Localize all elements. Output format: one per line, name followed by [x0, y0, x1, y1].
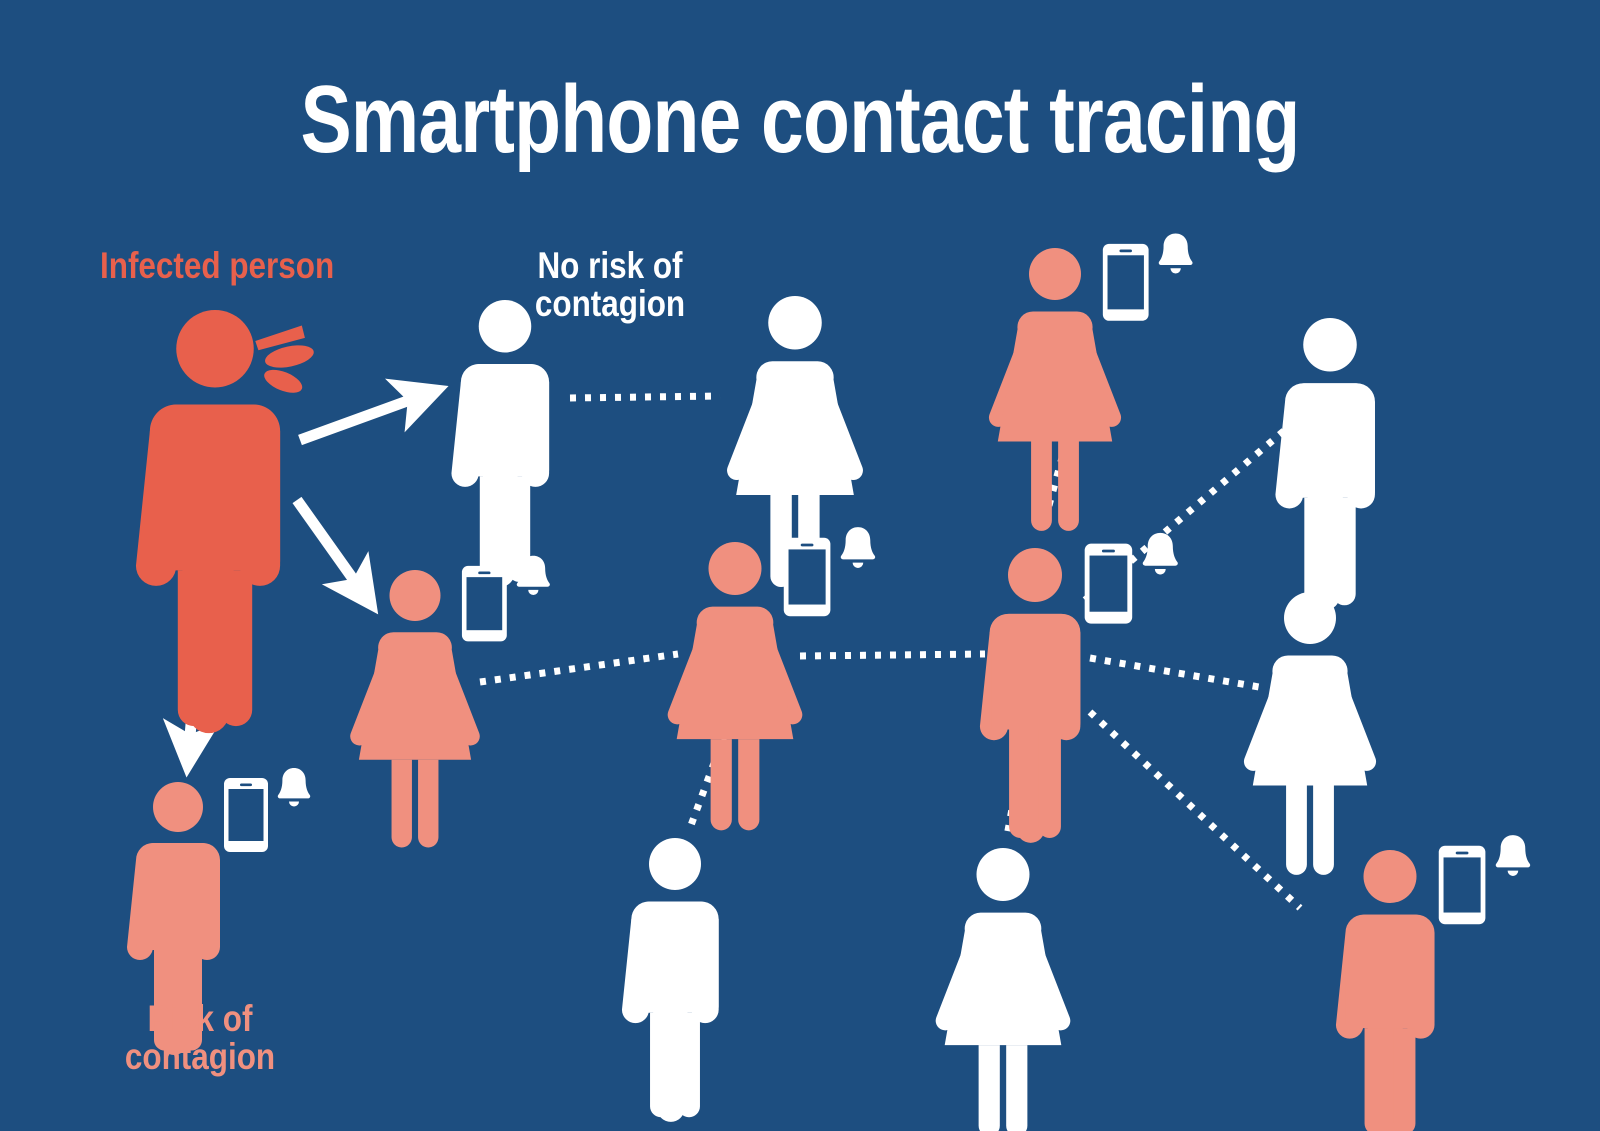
- phone-screen: [789, 549, 826, 604]
- figure-head: [1284, 592, 1336, 644]
- phone-speaker: [1119, 250, 1131, 253]
- figure-leg-right: [1393, 1028, 1415, 1131]
- figure-torso: [992, 614, 1078, 730]
- person-n6-risk: [350, 556, 550, 848]
- smartphone-with-notification: [1439, 835, 1530, 924]
- notification-bell-icon: [1143, 533, 1178, 575]
- phone-speaker: [240, 784, 252, 787]
- male-pictogram: [1336, 850, 1435, 1131]
- smartphone-icon: [224, 778, 268, 852]
- figure-dress: [945, 913, 1062, 1046]
- figure-dress: [736, 361, 854, 495]
- page-title: Smartphone contact tracing: [160, 72, 1440, 168]
- transmission-arrow-n1-n6: [297, 500, 368, 600]
- bell-clapper: [1170, 268, 1180, 273]
- person-n12-no_risk: [936, 848, 1071, 1131]
- contact-link-n2-n3: [570, 396, 720, 398]
- figure-leg-left: [1009, 729, 1032, 838]
- figure-leg-left: [178, 570, 211, 726]
- cough-droplets-icon: [255, 326, 315, 398]
- contact-link-n6-n7: [480, 654, 678, 682]
- phone-speaker: [801, 544, 814, 547]
- smartphone-with-notification: [784, 527, 875, 616]
- figure-head: [176, 310, 254, 388]
- person-n5-no_risk: [1275, 318, 1375, 610]
- figure-head: [153, 782, 203, 832]
- female-pictogram: [936, 848, 1071, 1131]
- bell-clapper: [1508, 871, 1519, 876]
- notification-bell-icon: [278, 768, 310, 807]
- dotted-links-layer: [480, 396, 1300, 908]
- figure-torso: [1287, 383, 1373, 497]
- smartphone-with-notification: [224, 768, 310, 852]
- figure-head: [1029, 248, 1081, 300]
- figure-dress: [359, 632, 471, 760]
- figure-leg-right: [1333, 498, 1355, 606]
- figure-dress: [677, 607, 794, 740]
- male-pictogram: [622, 838, 719, 1122]
- bell-clapper: [289, 802, 299, 807]
- figure-torso: [153, 405, 277, 571]
- figure-leg-right: [738, 739, 759, 830]
- phone-screen: [1090, 556, 1128, 612]
- phone-speaker: [478, 572, 490, 575]
- figure-dress: [1253, 655, 1367, 785]
- phone-speaker: [1102, 550, 1115, 553]
- smartphone-icon: [1439, 846, 1486, 924]
- figure-head: [1008, 548, 1062, 602]
- figure-leg-right: [1058, 441, 1079, 530]
- legend-label-risk: Risk of contagion: [64, 1000, 336, 1077]
- figure-dress: [998, 311, 1112, 441]
- phone-speaker: [1456, 852, 1469, 855]
- person-n11-no_risk: [622, 838, 719, 1122]
- bell-dome: [841, 527, 875, 559]
- person-n1-infected: [136, 310, 316, 733]
- figure-head: [649, 838, 701, 890]
- phone-screen: [1444, 857, 1481, 912]
- figure-leg-left: [650, 1013, 672, 1118]
- bell-dome: [1159, 233, 1193, 265]
- figure-torso: [633, 901, 716, 1012]
- phone-screen: [229, 789, 264, 841]
- bell-dome: [278, 768, 310, 798]
- person-n2-no_risk: [451, 300, 549, 587]
- contact-link-n8-n9: [1090, 658, 1265, 688]
- male-pictogram: [980, 548, 1080, 843]
- person-n8-risk: [980, 533, 1178, 843]
- figure-leg-left: [1304, 498, 1326, 606]
- figure-head: [709, 542, 762, 595]
- figure-leg-right: [418, 760, 438, 848]
- bell-dome: [1496, 835, 1530, 867]
- cough-droplet-3: [261, 365, 305, 397]
- notification-bell-icon: [1159, 233, 1193, 273]
- infographic-canvas: Smartphone contact tracing Infected pers…: [0, 0, 1600, 1131]
- male-pictogram: [1275, 318, 1375, 610]
- figure-leg-left: [392, 760, 412, 848]
- figure-head: [768, 296, 822, 350]
- phone-screen: [1108, 255, 1144, 309]
- figure-torso: [1348, 915, 1433, 1028]
- male-pictogram: [136, 310, 280, 733]
- figure-leg-left: [1031, 441, 1052, 530]
- male-pictogram: [451, 300, 549, 587]
- phone-screen: [467, 577, 503, 630]
- bell-clapper: [528, 590, 538, 595]
- transmission-arrow-n1-n2: [300, 392, 432, 440]
- bell-clapper: [1155, 569, 1166, 574]
- people-nodes-layer: [127, 233, 1530, 1131]
- notification-bell-icon: [841, 527, 875, 568]
- female-pictogram: [1244, 592, 1376, 875]
- bell-dome: [1143, 533, 1178, 566]
- person-n9-no_risk: [1244, 592, 1376, 875]
- figure-leg-left: [1365, 1028, 1387, 1131]
- figure-leg-right: [220, 570, 253, 726]
- figure-leg-right: [1006, 1045, 1027, 1131]
- smartphone-icon: [462, 566, 507, 641]
- figure-leg-left: [711, 739, 732, 830]
- figure-leg-left: [1286, 785, 1307, 874]
- person-n4-risk: [989, 233, 1193, 530]
- figure-head: [977, 848, 1030, 901]
- smartphone-icon: [784, 538, 831, 616]
- female-pictogram: [350, 570, 480, 847]
- legend-label-infected: Infected person: [100, 247, 334, 285]
- legend-label-no-risk: No risk of contagion: [491, 247, 729, 324]
- figure-leg-right: [678, 1013, 700, 1118]
- figure-leg-left: [979, 1045, 1000, 1131]
- figure-torso: [138, 843, 218, 950]
- smartphone-with-notification: [1103, 233, 1193, 320]
- smartphone-icon: [1085, 544, 1133, 624]
- figure-head: [1364, 850, 1417, 903]
- person-n13-risk: [1336, 835, 1530, 1131]
- smartphone-with-notification: [1085, 533, 1178, 624]
- figure-torso: [463, 364, 547, 476]
- figure-leg-right: [1313, 785, 1334, 874]
- smartphone-icon: [1103, 244, 1149, 321]
- figure-leg-right: [1038, 729, 1061, 838]
- notification-bell-icon: [1496, 835, 1530, 876]
- figure-head: [1303, 318, 1357, 372]
- figure-head: [390, 570, 441, 621]
- contact-link-n7-n8: [800, 654, 985, 656]
- bell-clapper: [853, 563, 864, 568]
